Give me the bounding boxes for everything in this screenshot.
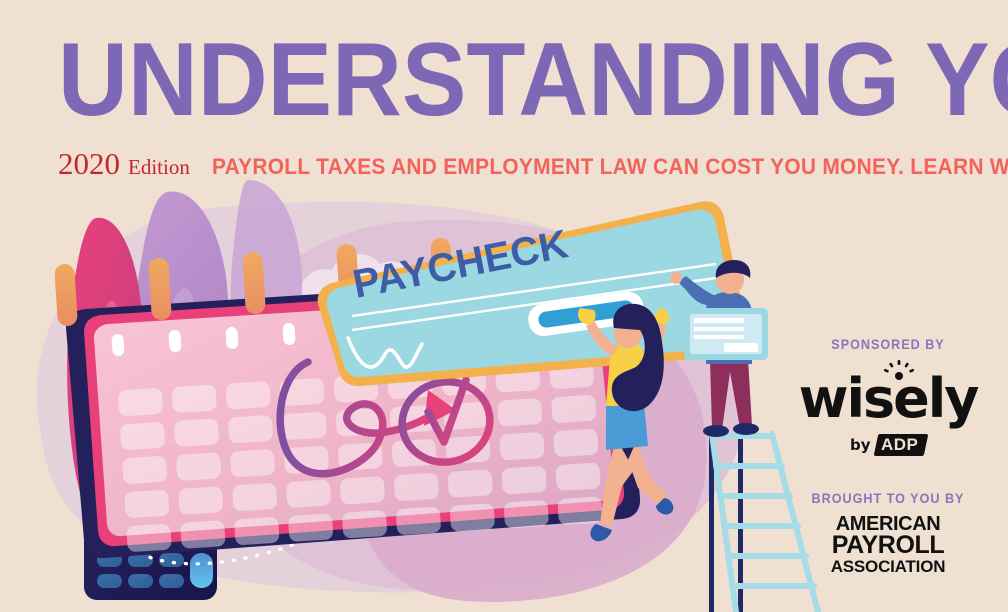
sunburst-icon — [884, 360, 914, 382]
adp-logo: ADP — [873, 434, 928, 456]
by-adp-lockup: by ADP — [788, 434, 988, 456]
subtitle-row: 2020 Edition PAYROLL TAXES AND EMPLOYMEN… — [58, 148, 1008, 179]
man-held-check — [684, 308, 768, 360]
edition-label: Edition — [128, 157, 190, 178]
illustration-artwork: PAYCHECK — [0, 180, 830, 612]
logo-column: SPONSORED BY wisely by ADP BROUGHT T — [788, 336, 988, 577]
wisely-logo[interactable]: wisely — [788, 372, 988, 430]
publisher-block: BROUGHT TO YOU BY AMERICAN PAYROLL ASSOC… — [788, 490, 988, 577]
sponsored-by-kicker: SPONSORED BY — [798, 336, 978, 352]
adp-wordmark: ADP — [881, 435, 918, 455]
apa-line-2: PAYROLL — [788, 535, 988, 556]
calculator-key-equals — [190, 553, 213, 588]
apa-logo: AMERICAN PAYROLL ASSOCIATION — [788, 514, 988, 577]
page-title: UNDERSTANDING YOUR PAY — [58, 28, 895, 132]
brought-to-you-by-kicker: BROUGHT TO YOU BY — [798, 490, 978, 506]
poster-canvas: PAYCHECK — [0, 0, 1008, 612]
by-label: by — [850, 436, 871, 454]
edition-year: 2020 — [58, 148, 120, 179]
tagline: PAYROLL TAXES AND EMPLOYMENT LAW CAN COS… — [212, 156, 1008, 178]
apa-line-3: ASSOCIATION — [788, 556, 988, 577]
